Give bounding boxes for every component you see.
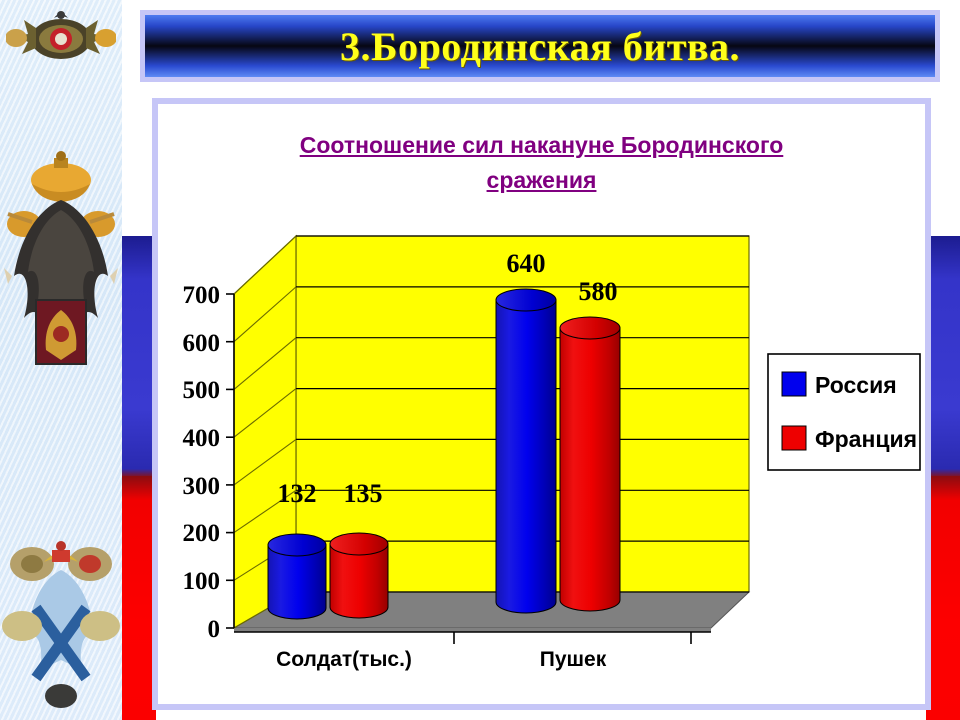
bar-chart: 0 100 200 300 400 500 600 700 <box>158 104 937 716</box>
decorative-ornament-column <box>0 0 122 720</box>
y-tick-600: 600 <box>183 330 221 357</box>
y-tick-300: 300 <box>183 473 221 500</box>
y-tick-200: 200 <box>183 520 221 547</box>
legend-label-russia: Россия <box>815 372 897 398</box>
order-badge-icon <box>2 520 120 710</box>
y-tick-400: 400 <box>183 425 221 452</box>
flag-band-left <box>122 236 156 720</box>
legend-swatch-france <box>782 426 806 450</box>
data-label-cannons-russia: 640 <box>507 249 546 278</box>
y-tick-0: 0 <box>208 616 221 643</box>
y-tick-700: 700 <box>183 282 221 309</box>
content-panel-inner: Соотношение сил накануне Бородинского ср… <box>158 104 925 704</box>
slide-root: 3.Бородинская битва. Соотношение сил нак… <box>0 0 960 720</box>
bar-soldiers-russia <box>268 534 326 619</box>
y-tick-100: 100 <box>183 568 221 595</box>
double-headed-eagle-icon <box>2 150 120 410</box>
data-label-soldiers-russia: 132 <box>278 479 317 508</box>
flag-band-left-red <box>122 476 156 720</box>
legend-swatch-russia <box>782 372 806 396</box>
imperial-crest-top-icon <box>6 8 116 70</box>
flag-band-left-blue <box>122 236 156 476</box>
y-axis-ticks <box>226 294 234 628</box>
bar-cannons-france <box>560 317 620 611</box>
page-title: 3.Бородинская битва. <box>340 23 740 70</box>
content-panel: Соотношение сил накануне Бородинского ср… <box>152 98 931 710</box>
y-axis-tick-labels: 0 100 200 300 400 500 600 700 <box>183 282 221 643</box>
y-tick-500: 500 <box>183 377 221 404</box>
data-label-cannons-france: 580 <box>579 277 618 306</box>
chart-legend: Россия Франция <box>768 354 920 470</box>
legend-label-france: Франция <box>815 426 917 452</box>
bar-cannons-russia <box>496 289 556 613</box>
slide-title-banner: 3.Бородинская битва. <box>140 10 940 82</box>
data-label-soldiers-france: 135 <box>344 479 383 508</box>
x-category-cannons: Пушек <box>540 648 607 671</box>
x-category-soldiers: Солдат(тыс.) <box>276 648 412 671</box>
bar-soldiers-france <box>330 533 388 618</box>
slide-title-gradient: 3.Бородинская битва. <box>145 15 935 77</box>
